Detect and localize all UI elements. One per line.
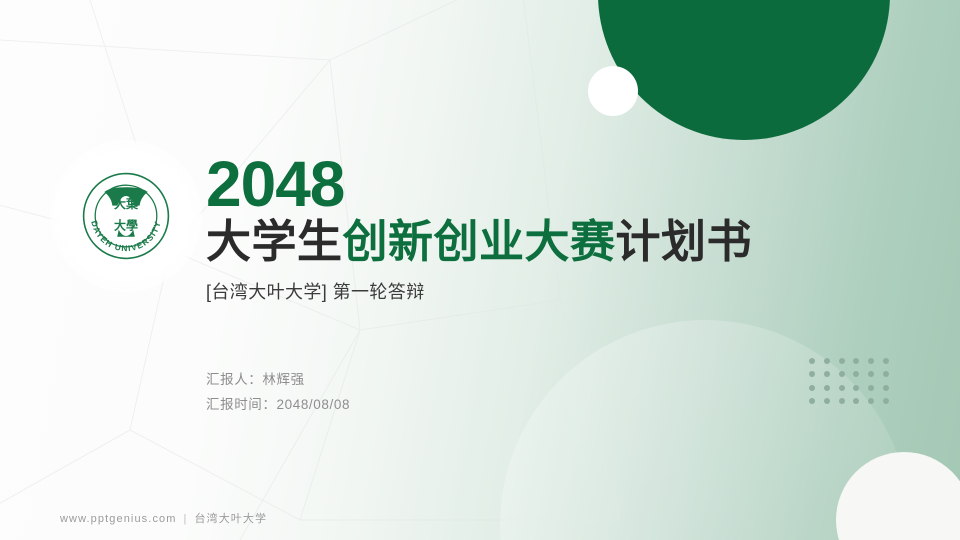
grid-dot (868, 398, 874, 404)
grid-dot (824, 358, 830, 364)
grid-dot (824, 385, 830, 391)
grid-dot (853, 358, 859, 364)
grid-dot (853, 385, 859, 391)
grid-dot (839, 398, 845, 404)
grid-dot (824, 398, 830, 404)
grid-dot (853, 398, 859, 404)
bottom-right-white-circle (836, 452, 960, 540)
dayeh-university-emblem-icon: 大葉 大學 DAYEH UNIVERSITY (78, 168, 174, 264)
year-heading: 2048 (206, 155, 826, 214)
svg-text:大學: 大學 (114, 218, 138, 233)
white-accent-dot (588, 66, 638, 116)
svg-text:大葉: 大葉 (114, 196, 139, 211)
grid-dot (883, 398, 889, 404)
meta-info: 汇报人：林辉强 汇报时间：2048/08/08 (206, 368, 350, 418)
grid-dot (839, 371, 845, 377)
grid-dot (809, 385, 815, 391)
footer: www.pptgenius.com|台湾大叶大学 (60, 510, 267, 526)
grid-dot (868, 358, 874, 364)
grid-dot (868, 385, 874, 391)
grid-dot (809, 358, 815, 364)
grid-dot (839, 385, 845, 391)
footer-organization: 台湾大叶大学 (195, 513, 268, 525)
faint-center-circle (500, 320, 910, 540)
grid-dot (824, 371, 830, 377)
main-title: 大学生创新创业大赛计划书 (206, 218, 826, 266)
grid-dot (883, 371, 889, 377)
date-line: 汇报时间：2048/08/08 (206, 393, 350, 418)
subtitle: [台湾大叶大学] 第一轮答辩 (206, 278, 826, 304)
grid-dot (853, 371, 859, 377)
footer-separator: | (184, 513, 188, 525)
grid-dot (809, 398, 815, 404)
headline-block: 2048 大学生创新创业大赛计划书 [台湾大叶大学] 第一轮答辩 (206, 155, 826, 304)
grid-dot (868, 371, 874, 377)
footer-website[interactable]: www.pptgenius.com (60, 513, 177, 525)
grid-dot (809, 371, 815, 377)
grid-dot (839, 358, 845, 364)
presenter-line: 汇报人：林辉强 (206, 368, 350, 393)
dot-grid (805, 354, 893, 408)
grid-dot (883, 385, 889, 391)
presentation-slide: 大葉 大學 DAYEH UNIVERSITY 2048 大学生创新创业大赛计划书… (0, 0, 960, 540)
university-logo: 大葉 大學 DAYEH UNIVERSITY (78, 168, 174, 264)
main-title-part-3: 计划书 (616, 216, 753, 267)
grid-dot (883, 358, 889, 364)
main-title-part-2: 创新创业大赛 (343, 216, 616, 267)
main-title-part-1: 大学生 (206, 216, 343, 267)
top-right-green-circle (598, 0, 890, 140)
